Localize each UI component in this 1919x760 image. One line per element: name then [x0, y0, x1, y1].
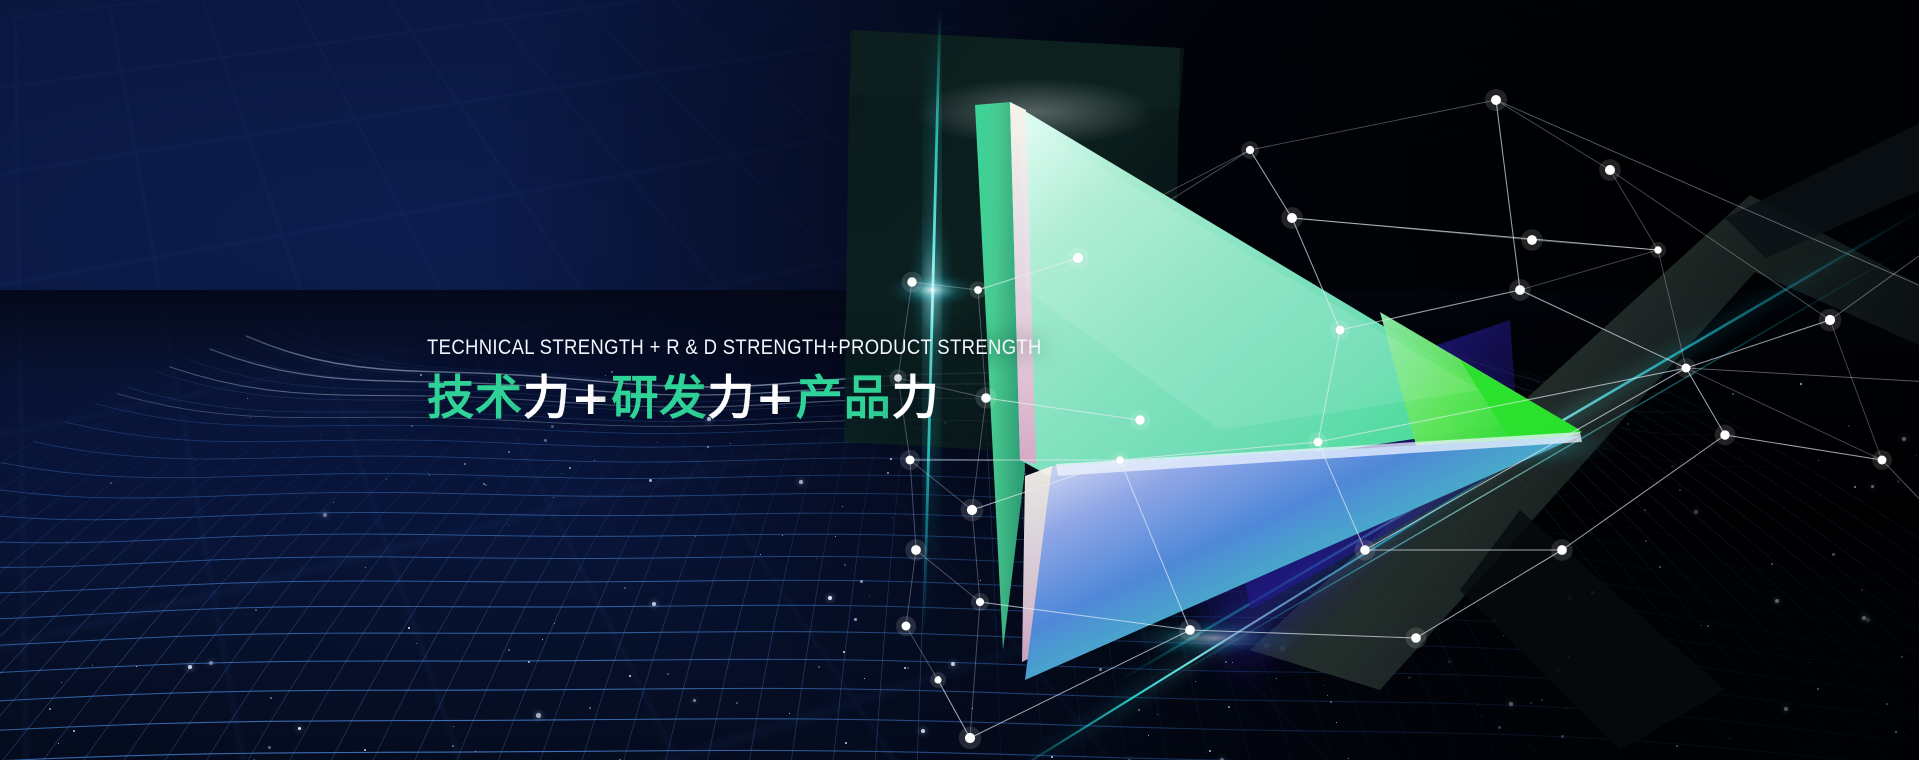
particle [320, 434, 321, 435]
wireframe-node [1246, 146, 1254, 154]
wireframe-node [965, 733, 975, 743]
particle [554, 623, 555, 624]
wireframe-node [1287, 213, 1297, 223]
wireframe-node [1491, 95, 1501, 105]
particle [649, 479, 652, 482]
wireframe-edge [1725, 435, 1882, 460]
particle [247, 398, 248, 399]
particle [411, 425, 413, 427]
particle [452, 745, 454, 747]
particle [73, 730, 75, 732]
particle [695, 536, 696, 537]
headline-segment-2: + [571, 371, 611, 426]
wireframe-node [1605, 165, 1615, 175]
wireframe-node [906, 456, 915, 465]
headline-segment-5: + [755, 371, 795, 426]
wireframe-edge [910, 460, 972, 510]
wireframe-edge [1686, 368, 1919, 382]
wireframe-node [1878, 456, 1887, 465]
particle [49, 708, 51, 710]
particle [255, 609, 257, 611]
particle [816, 558, 817, 559]
flare-left-beam [886, 272, 978, 308]
headline-segment-6: 产品 [796, 371, 892, 426]
particle [429, 475, 430, 476]
wireframe-edge [1496, 100, 1520, 290]
particle [408, 627, 410, 629]
particle [536, 713, 541, 718]
particle [298, 727, 301, 730]
particle [508, 649, 510, 651]
particle [629, 675, 631, 677]
page-title: 技术力+研发力+产品力 [427, 375, 1142, 422]
particle [667, 673, 669, 675]
particle [594, 460, 595, 461]
particle [782, 535, 783, 536]
hero-copy: TECHNICAL STRENGTH + R & D STRENGTH+PROD… [427, 337, 1142, 422]
particle [789, 713, 790, 714]
wireframe-edge [1340, 290, 1520, 330]
headline-segment-4: 力 [707, 371, 755, 426]
headline-segment-1: 力 [523, 371, 571, 426]
wireframe-node [1682, 364, 1691, 373]
headline-segment-7: 力 [892, 371, 940, 426]
wireframe-node [1314, 438, 1323, 447]
wireframe-edge [1610, 170, 1658, 250]
particle [528, 661, 530, 663]
particle [136, 666, 137, 667]
particle [544, 439, 547, 442]
particle [428, 473, 429, 474]
particle [508, 525, 509, 526]
particle [652, 602, 656, 606]
particle [66, 541, 67, 542]
particle [589, 707, 591, 709]
particle [365, 567, 366, 568]
wireframe-edge [1686, 320, 1830, 368]
wireframe-node [1185, 625, 1195, 635]
particle [693, 699, 696, 702]
particle [209, 661, 213, 665]
particle [569, 467, 571, 469]
headline-segment-3: 研发 [611, 371, 707, 426]
particle [799, 480, 803, 484]
particle [92, 665, 93, 666]
particle [657, 442, 658, 443]
wireframe-edge [1250, 150, 1292, 218]
particle [736, 702, 738, 704]
particle [268, 746, 271, 749]
wireframe-node [974, 286, 982, 294]
wireframe-edge [1496, 100, 1610, 170]
wireframe-node [1557, 545, 1567, 555]
wireframe-node [1720, 430, 1729, 439]
wireframe-node [907, 277, 916, 286]
particle [58, 743, 59, 744]
wireframe-node [1825, 315, 1835, 325]
particle [364, 749, 366, 751]
particle [624, 587, 626, 589]
particle [561, 473, 562, 474]
hero-banner: TECHNICAL STRENGTH + R & D STRENGTH+PROD… [0, 0, 1919, 760]
particle [475, 751, 476, 752]
wireframe-node [1116, 456, 1124, 464]
wireframe-node [934, 676, 941, 683]
particle [542, 639, 543, 640]
wireframe-node [1411, 633, 1421, 643]
particle [270, 697, 272, 699]
wireframe-node [967, 505, 977, 515]
particle [188, 665, 192, 669]
particle [333, 502, 334, 503]
wireframe-edge [1250, 100, 1496, 150]
particle [464, 463, 466, 465]
particle [483, 483, 485, 485]
wireframe-edge [972, 510, 980, 602]
particle [453, 726, 454, 727]
wireframe-node [911, 545, 921, 555]
wireframe-node [976, 598, 984, 606]
wireframe-node [1336, 326, 1345, 335]
particle [508, 451, 510, 453]
particle [553, 497, 554, 498]
particle [707, 446, 709, 448]
particle [195, 460, 196, 461]
wireframe-edge [1686, 368, 1725, 435]
particle [250, 417, 251, 418]
wireframe-node [1360, 545, 1370, 555]
headline-segment-0: 技术 [427, 371, 523, 426]
particle [323, 513, 327, 517]
particle [61, 682, 62, 683]
wireframe-node [1527, 235, 1537, 245]
particle [110, 482, 112, 484]
particle [416, 643, 417, 644]
eyebrow-text: TECHNICAL STRENGTH + R & D STRENGTH+PROD… [427, 337, 1042, 359]
wireframe-edge [906, 550, 916, 626]
wireframe-edge [970, 602, 980, 738]
wireframe-node [1073, 253, 1083, 263]
wireframe-edge [910, 460, 916, 550]
particle [386, 479, 387, 480]
particle [420, 374, 422, 376]
particle [730, 443, 731, 444]
wireframe-edge [1520, 250, 1658, 290]
particle [760, 554, 761, 555]
wireframe-node [902, 622, 911, 631]
wireframe-edge [1292, 218, 1658, 250]
wireframe-node [1654, 246, 1661, 253]
wireframe-node [1515, 285, 1525, 295]
particle [485, 484, 487, 486]
